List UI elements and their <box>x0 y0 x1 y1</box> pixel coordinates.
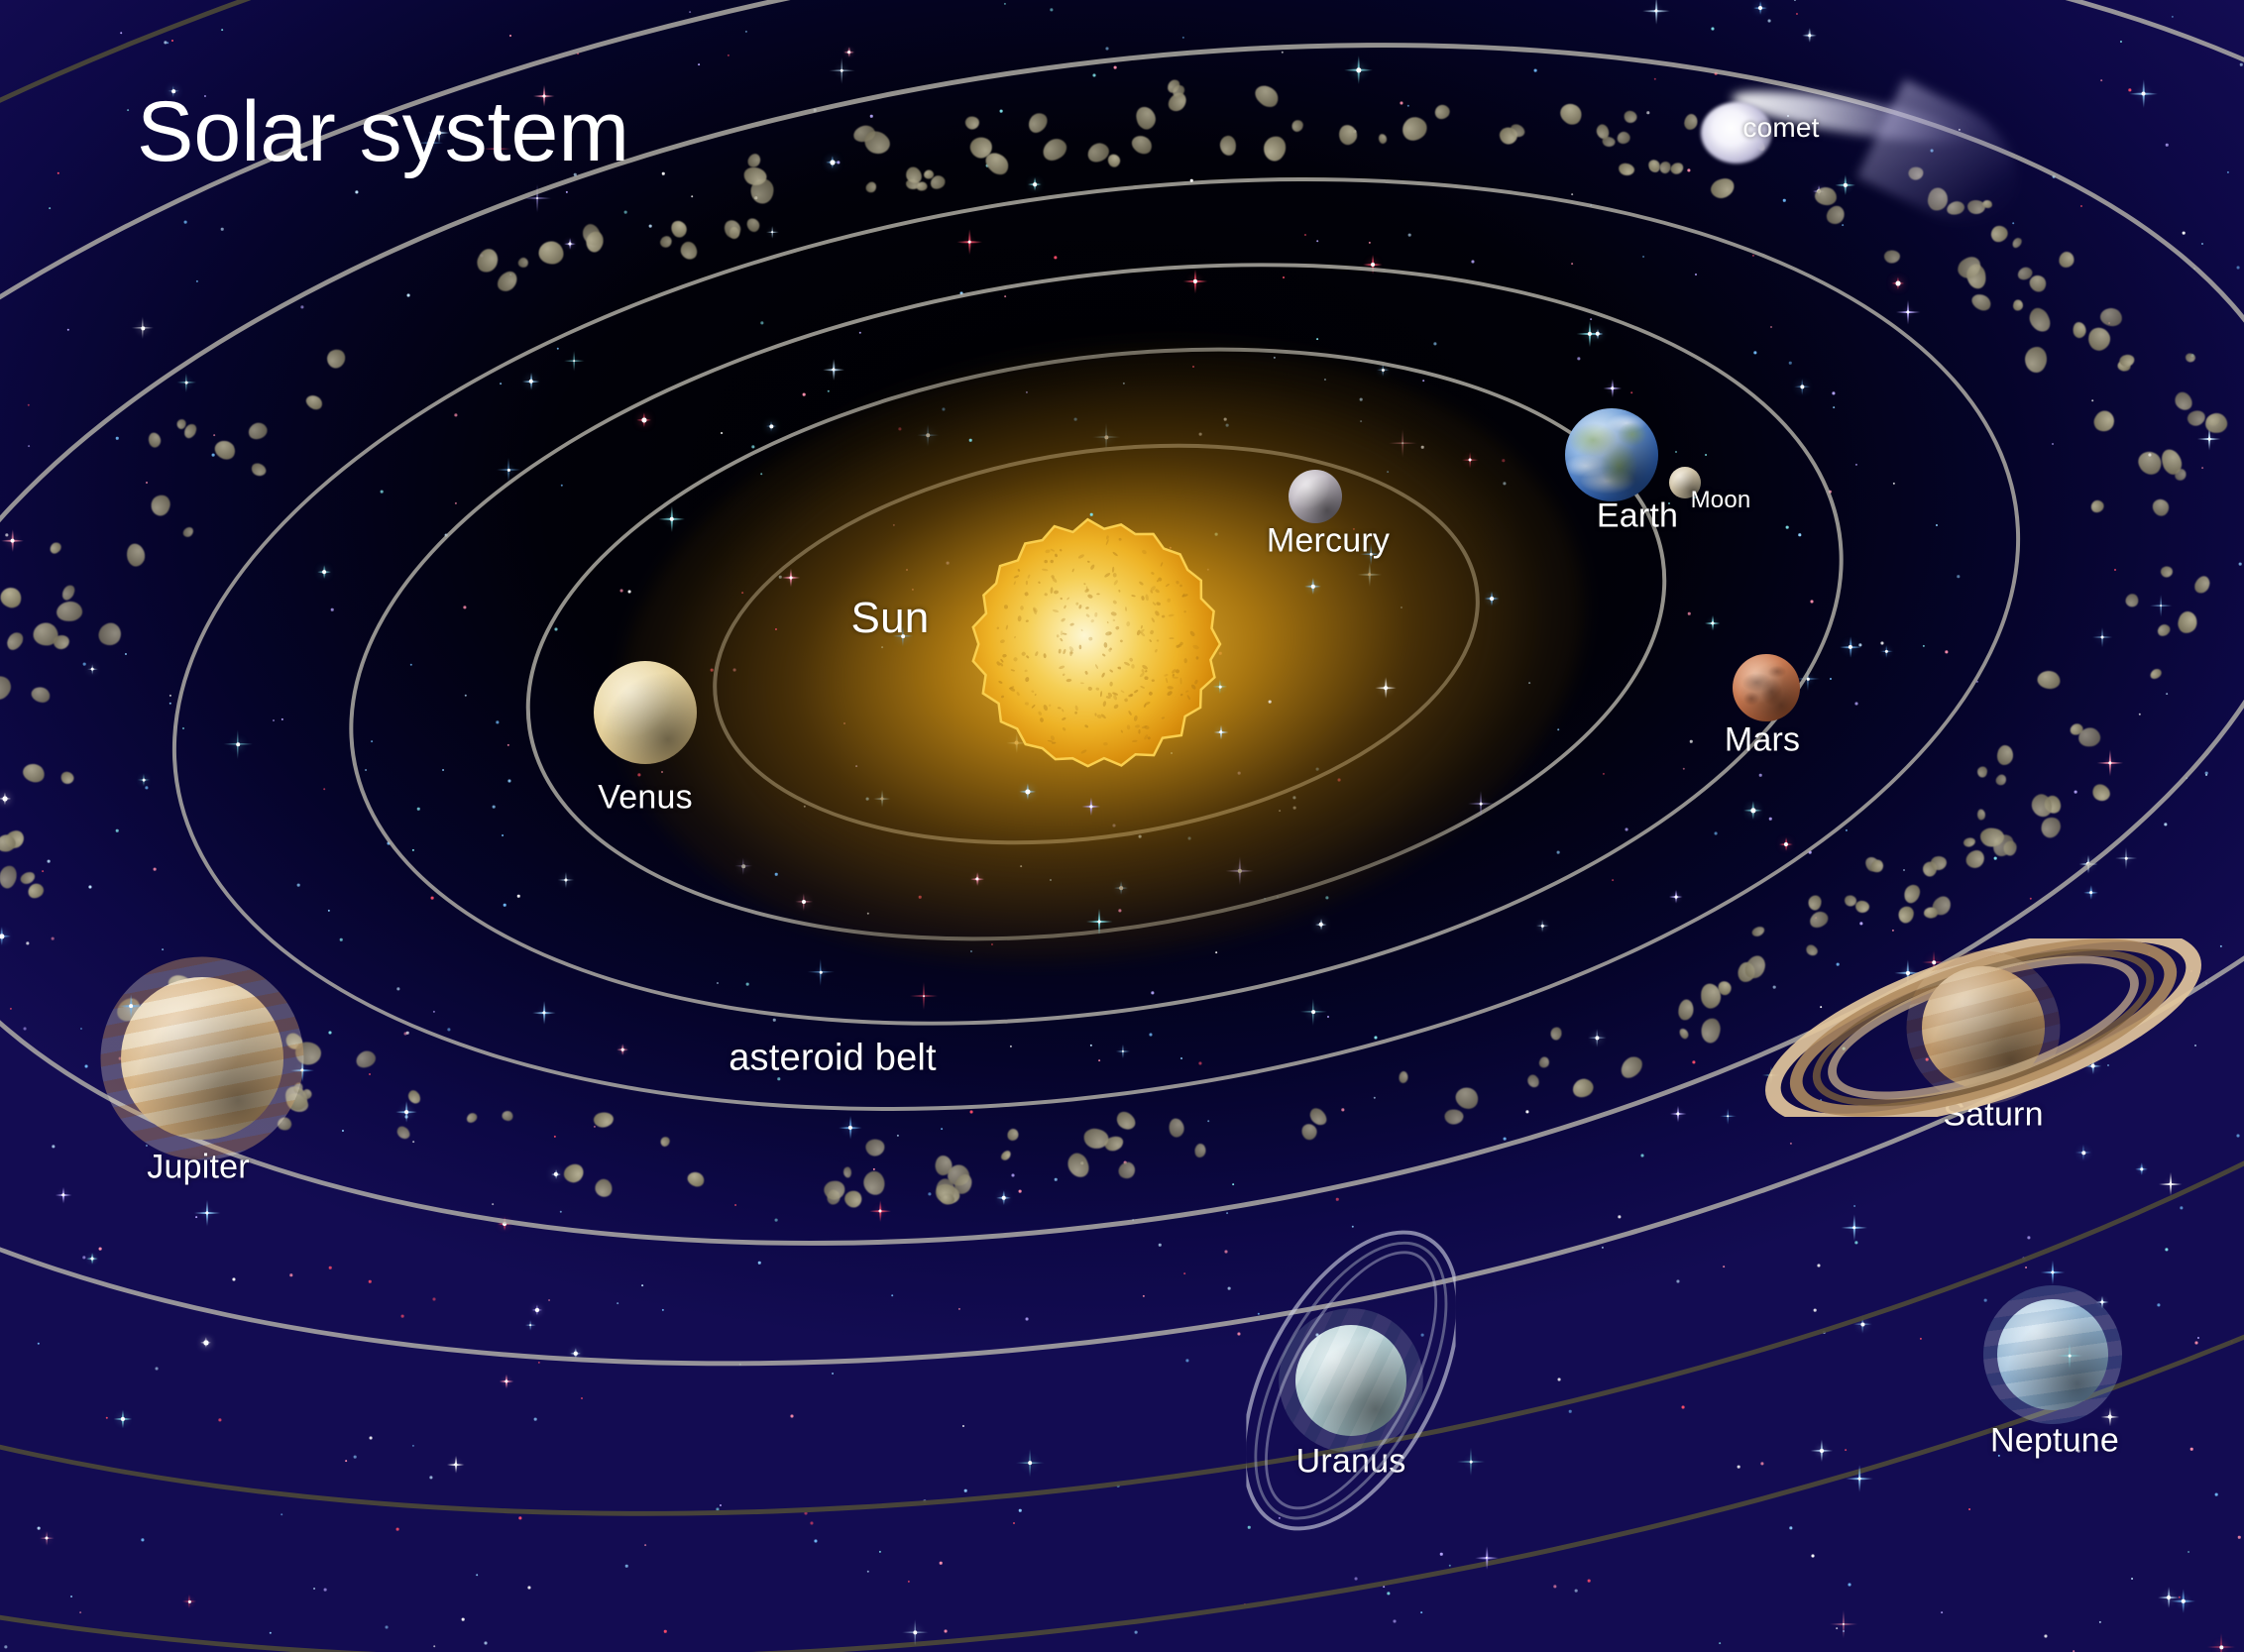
asteroid <box>593 1111 615 1129</box>
star-dot <box>1823 1331 1826 1334</box>
star-dot <box>745 31 747 33</box>
asteroid <box>0 864 18 890</box>
asteroid <box>2160 565 2174 578</box>
star-dot <box>171 40 173 42</box>
star-dot <box>620 590 623 593</box>
asteroid <box>1618 163 1635 176</box>
star-sparkle <box>827 157 840 169</box>
star-dot <box>1019 1509 1022 1512</box>
star-sparkle <box>765 420 776 431</box>
star-dot <box>212 454 215 457</box>
star-sparkle <box>956 229 982 255</box>
star-dot <box>1282 52 1284 54</box>
planet-jupiter[interactable] <box>121 977 283 1140</box>
star-dot <box>2100 79 2102 81</box>
star-dot <box>106 1417 108 1419</box>
asteroid <box>1963 836 1976 848</box>
comet[interactable] <box>1685 55 2012 203</box>
star-sparkle <box>1761 1065 1781 1085</box>
star-dot <box>1183 1272 1185 1274</box>
star-dot <box>560 1211 562 1213</box>
star-dot <box>2227 171 2229 173</box>
star-sparkle <box>1642 0 1670 25</box>
star-sparkle <box>447 1456 465 1474</box>
star-dot <box>141 1538 144 1541</box>
star-dot <box>534 1418 537 1421</box>
star-sparkle <box>659 506 686 533</box>
star-dot <box>2075 791 2077 794</box>
star-dot <box>2012 222 2014 224</box>
star-sparkle <box>176 373 196 392</box>
star-dot <box>2205 772 2208 775</box>
asteroid <box>59 771 75 786</box>
star-dot <box>527 1586 530 1589</box>
asteroid <box>1218 135 1237 157</box>
star-dot <box>960 292 963 295</box>
star-sparkle <box>1895 960 1922 987</box>
star-sparkle <box>131 316 155 340</box>
star-dot <box>554 1136 556 1138</box>
star-dot <box>814 109 817 112</box>
asteroid <box>394 1124 412 1141</box>
star-dot <box>433 1298 436 1301</box>
star-dot <box>1387 1592 1390 1595</box>
star-sparkle <box>498 1217 511 1231</box>
star-dot <box>2157 1303 2160 1306</box>
star-dot <box>803 393 806 396</box>
asteroid <box>181 525 195 539</box>
solar-system-diagram: Solar system SunMercuryVenusEarthMoonMar… <box>0 0 2244 1652</box>
star-dot <box>1407 105 1409 107</box>
star-dot <box>1114 66 1117 69</box>
star-dot <box>1190 179 1193 182</box>
star-dot <box>324 1589 327 1592</box>
star-sparkle <box>522 183 551 212</box>
star-dot <box>407 294 410 297</box>
planet-shading <box>1997 1299 2108 1410</box>
star-sparkle <box>2079 855 2097 873</box>
star-sparkle <box>86 1253 98 1265</box>
star-dot <box>405 1116 408 1119</box>
star-dot <box>42 870 44 872</box>
star-dot <box>970 1111 973 1114</box>
star-dot <box>734 1204 736 1206</box>
star-dot <box>775 1219 778 1222</box>
star-sparkle <box>1376 363 1389 376</box>
star-dot <box>557 348 559 350</box>
asteroid <box>1337 123 1360 147</box>
star-dot <box>1833 406 1835 408</box>
star-sparkle <box>1299 998 1327 1026</box>
asteroid <box>1883 250 1900 264</box>
planet-shading <box>1733 654 1800 721</box>
star-dot <box>2190 970 2192 972</box>
planet-shading <box>1289 470 1342 523</box>
label-jupiter: Jupiter <box>147 1149 249 1187</box>
asteroid <box>1556 100 1585 128</box>
planet-shading <box>1922 966 2045 1089</box>
asteroid <box>2011 236 2024 250</box>
asteroid <box>1678 1027 1691 1041</box>
star-dot <box>1159 1244 1162 1247</box>
label-mars: Mars <box>1725 721 1800 760</box>
star-dot <box>2030 898 2032 900</box>
asteroid <box>1658 161 1671 174</box>
star-dot <box>958 1308 960 1310</box>
star-dot <box>1641 1155 1644 1157</box>
star-dot <box>386 1626 389 1629</box>
star-dot <box>1705 454 1707 456</box>
star-dot <box>1715 832 1718 835</box>
star-dot <box>1557 728 1559 730</box>
asteroid <box>516 256 529 269</box>
star-dot <box>1237 1332 1240 1335</box>
star-dot <box>213 434 215 436</box>
asteroid <box>1129 133 1156 158</box>
star-dot <box>10 1008 12 1010</box>
asteroid <box>2072 321 2087 339</box>
star-dot <box>1618 1215 1621 1218</box>
star-dot <box>1590 318 1592 320</box>
star-dot <box>412 849 414 851</box>
star-dot <box>369 1280 372 1283</box>
star-dot <box>691 195 693 197</box>
planet-mercury[interactable] <box>1289 470 1342 523</box>
star-sparkle <box>2097 750 2124 777</box>
asteroid <box>1804 943 1819 958</box>
star-dot <box>1790 1143 1792 1145</box>
star-sparkle <box>2075 1144 2092 1161</box>
star-sparkle <box>551 1169 561 1179</box>
star-dot <box>28 404 30 406</box>
star-sparkle <box>0 928 11 946</box>
star-sparkle <box>2085 1058 2102 1075</box>
star-dot <box>1577 357 1580 360</box>
star-dot <box>1352 1226 1354 1228</box>
star-sparkle <box>564 238 576 250</box>
star-dot <box>717 982 719 984</box>
star-dot <box>463 606 466 608</box>
star-dot <box>2080 205 2082 207</box>
star-sparkle <box>522 373 540 390</box>
star-dot <box>80 1028 82 1030</box>
star-dot <box>1553 1585 1556 1588</box>
star-dot <box>2231 1341 2233 1343</box>
star-dot <box>396 1528 399 1531</box>
asteroid <box>1677 999 1694 1021</box>
star-sparkle <box>1345 56 1374 85</box>
star-sparkle <box>617 1044 628 1055</box>
star-dot <box>465 695 467 697</box>
comet-tail-curve <box>1856 79 2038 243</box>
star-dot <box>162 948 164 950</box>
label-comet: comet <box>1742 112 1819 144</box>
asteroid <box>59 583 76 602</box>
star-dot <box>1012 1174 1015 1177</box>
star-sparkle <box>807 958 835 986</box>
asteroid <box>2038 815 2063 840</box>
star-dot <box>1421 1334 1424 1337</box>
star-sparkle <box>1896 300 1920 324</box>
star-dot <box>2205 774 2207 776</box>
star-dot <box>2179 1597 2181 1598</box>
star-dot <box>370 1437 373 1440</box>
star-dot <box>945 1630 948 1633</box>
asteroid <box>2088 497 2106 515</box>
asteroid <box>1025 110 1051 137</box>
star-dot <box>1832 391 1835 394</box>
asteroid <box>1902 883 1922 906</box>
star-dot <box>116 437 119 440</box>
asteroid <box>212 438 239 463</box>
asteroid <box>56 600 84 622</box>
asteroid <box>2203 411 2229 435</box>
star-dot <box>923 1499 926 1502</box>
asteroid <box>246 420 270 443</box>
star-dot <box>1646 111 1649 114</box>
star-dot <box>1198 1061 1201 1064</box>
star-dot <box>146 1145 148 1147</box>
star-dot <box>49 207 51 209</box>
asteroid <box>2084 324 2113 354</box>
star-dot <box>1571 193 1573 195</box>
star-dot <box>406 1032 409 1035</box>
star-dot <box>433 1011 435 1013</box>
star-dot <box>26 941 29 944</box>
star-dot <box>88 885 91 888</box>
star-dot <box>1836 1627 1838 1629</box>
label-mercury: Mercury <box>1267 522 1390 561</box>
star-dot <box>83 663 86 666</box>
star-dot <box>1920 1338 1922 1340</box>
star-dot <box>1817 1264 1820 1267</box>
star-dot <box>38 1343 40 1345</box>
star-dot <box>38 1527 41 1530</box>
asteroid <box>2149 667 2164 681</box>
star-dot <box>1820 1099 1822 1101</box>
star-dot <box>1626 828 1628 831</box>
asteroid <box>668 218 690 240</box>
star-dot <box>1440 1553 1443 1556</box>
star-dot <box>447 1028 450 1031</box>
star-dot <box>1588 1580 1591 1583</box>
star-dot <box>928 1192 931 1195</box>
star-dot <box>196 280 198 282</box>
star-dot <box>581 1397 583 1399</box>
star-sparkle <box>1829 1609 1858 1639</box>
star-dot <box>805 1512 808 1515</box>
star-dot <box>2237 1135 2240 1138</box>
asteroid <box>2134 447 2166 479</box>
star-sparkle <box>2041 1261 2065 1284</box>
asteroid <box>147 431 162 449</box>
star-dot <box>454 413 457 416</box>
asteroid <box>964 116 980 131</box>
star-dot <box>1794 0 1796 1</box>
asteroid <box>150 494 171 517</box>
star-sparkle <box>1587 1028 1606 1046</box>
asteroid <box>2025 304 2055 335</box>
star-dot <box>1182 37 1184 39</box>
asteroid <box>2059 251 2076 269</box>
asteroid <box>561 1160 588 1186</box>
star-sparkle <box>1793 378 1810 394</box>
star-dot <box>1534 69 1537 72</box>
star-dot <box>1768 20 1771 23</box>
star-dot <box>410 664 412 666</box>
star-dot <box>281 718 283 720</box>
star-dot <box>1675 451 1677 453</box>
star-dot <box>313 1588 315 1590</box>
star-dot <box>169 695 171 697</box>
asteroid <box>2192 574 2212 596</box>
star-dot <box>2139 714 2141 716</box>
star-dot <box>664 1630 667 1633</box>
planet-venus[interactable] <box>594 661 697 764</box>
star-dot <box>1796 13 1798 15</box>
star-dot <box>1106 48 1109 51</box>
star-sparkle <box>557 871 575 889</box>
star-dot <box>1968 1508 1970 1510</box>
asteroid <box>2149 496 2172 518</box>
star-dot <box>184 221 187 224</box>
star-dot <box>879 1551 881 1553</box>
asteroid <box>2186 354 2195 363</box>
star-dot <box>644 1544 646 1546</box>
star-dot <box>1316 240 1318 242</box>
star-dot <box>1135 1631 1138 1634</box>
star-sparkle <box>1669 890 1683 904</box>
planet-shading <box>1295 1325 1406 1436</box>
star-sparkle <box>2084 886 2099 901</box>
star-dot <box>624 211 627 214</box>
star-dot <box>24 1028 27 1031</box>
star-dot <box>728 55 729 56</box>
planet-mars[interactable] <box>1733 654 1800 721</box>
asteroid <box>95 619 125 650</box>
star-dot <box>381 491 384 494</box>
label-earth: Earth <box>1597 497 1678 536</box>
star-dot <box>70 1596 72 1597</box>
star-dot <box>1525 1110 1528 1113</box>
star-dot <box>355 190 358 193</box>
star-dot <box>2205 982 2207 984</box>
star-dot <box>52 1145 55 1148</box>
planet-neptune[interactable] <box>1997 1299 2108 1410</box>
star-dot <box>1957 575 1960 578</box>
star-sparkle <box>500 1375 513 1388</box>
star-dot <box>1010 1046 1012 1047</box>
star-sparkle <box>1705 615 1721 631</box>
star-dot <box>1279 1517 1281 1519</box>
star-dot <box>1420 1611 1422 1613</box>
star-dot <box>431 897 434 900</box>
star-sparkle <box>2114 846 2137 869</box>
star-sparkle <box>2158 1587 2180 1608</box>
star-dot <box>538 1362 540 1364</box>
star-sparkle <box>844 48 855 58</box>
asteroid <box>1969 291 1993 313</box>
star-sparkle <box>194 1200 220 1226</box>
star-dot <box>1098 1059 1100 1061</box>
star-dot <box>79 1611 81 1613</box>
star-dot <box>429 1476 432 1479</box>
star-dot <box>698 63 700 65</box>
star-dot <box>1602 1247 1604 1249</box>
star-sparkle <box>2172 1590 2196 1614</box>
asteroid <box>1168 1117 1185 1139</box>
star-dot <box>401 1315 404 1318</box>
asteroid <box>1824 202 1849 227</box>
sun[interactable] <box>962 510 1230 778</box>
star-dot <box>594 1126 596 1128</box>
star-dot <box>1853 1205 1855 1207</box>
star-dot <box>1050 8 1053 11</box>
planet-uranus[interactable] <box>1295 1325 1406 1436</box>
star-dot <box>2215 1493 2218 1496</box>
star-dot <box>371 740 373 742</box>
star-dot <box>964 1489 967 1492</box>
asteroid <box>1453 1084 1482 1112</box>
star-dot <box>1304 234 1306 236</box>
star-dot <box>1688 612 1691 615</box>
star-dot <box>455 502 457 504</box>
asteroid <box>125 542 147 568</box>
star-dot <box>289 1273 292 1276</box>
star-dot <box>1026 1318 1029 1321</box>
star-sparkle <box>496 457 520 482</box>
star-dot <box>859 332 861 334</box>
star-dot <box>2025 1267 2027 1268</box>
star-dot <box>1798 533 1801 536</box>
star-dot <box>1846 829 1848 831</box>
star-dot <box>1248 1526 1251 1529</box>
star-dot <box>891 1294 893 1296</box>
star-dot <box>1630 391 1632 393</box>
star-sparkle <box>869 1200 891 1222</box>
star-sparkle <box>839 1116 862 1140</box>
planet-shading <box>121 977 283 1140</box>
star-sparkle <box>1535 919 1548 932</box>
star-dot <box>517 895 520 898</box>
asteroid <box>1550 1027 1562 1041</box>
asteroid <box>1538 1056 1550 1069</box>
star-dot <box>2238 1536 2241 1539</box>
star-dot <box>1225 1251 1228 1254</box>
star-dot <box>867 1571 869 1573</box>
star-dot <box>1695 274 1697 275</box>
star-dot <box>1936 524 1938 526</box>
star-dot <box>1994 857 1997 860</box>
asteroid <box>353 1047 378 1071</box>
label-moon: Moon <box>1691 487 1751 514</box>
star-dot <box>1811 601 1814 604</box>
star-dot <box>1855 703 1858 706</box>
star-sparkle <box>2206 1632 2235 1652</box>
planet-earth[interactable] <box>1565 408 1658 501</box>
star-dot <box>1855 464 1857 466</box>
star-dot <box>1976 681 1978 683</box>
asteroid <box>30 685 52 704</box>
star-dot <box>1575 1590 1578 1593</box>
star-sparkle <box>2091 626 2112 647</box>
star-dot <box>1770 326 1772 328</box>
star-dot <box>1215 951 1217 953</box>
star-sparkle <box>2136 1163 2149 1176</box>
asteroid <box>4 629 26 653</box>
star-sparkle <box>1852 1314 1871 1333</box>
planet-saturn[interactable] <box>1922 966 2045 1089</box>
